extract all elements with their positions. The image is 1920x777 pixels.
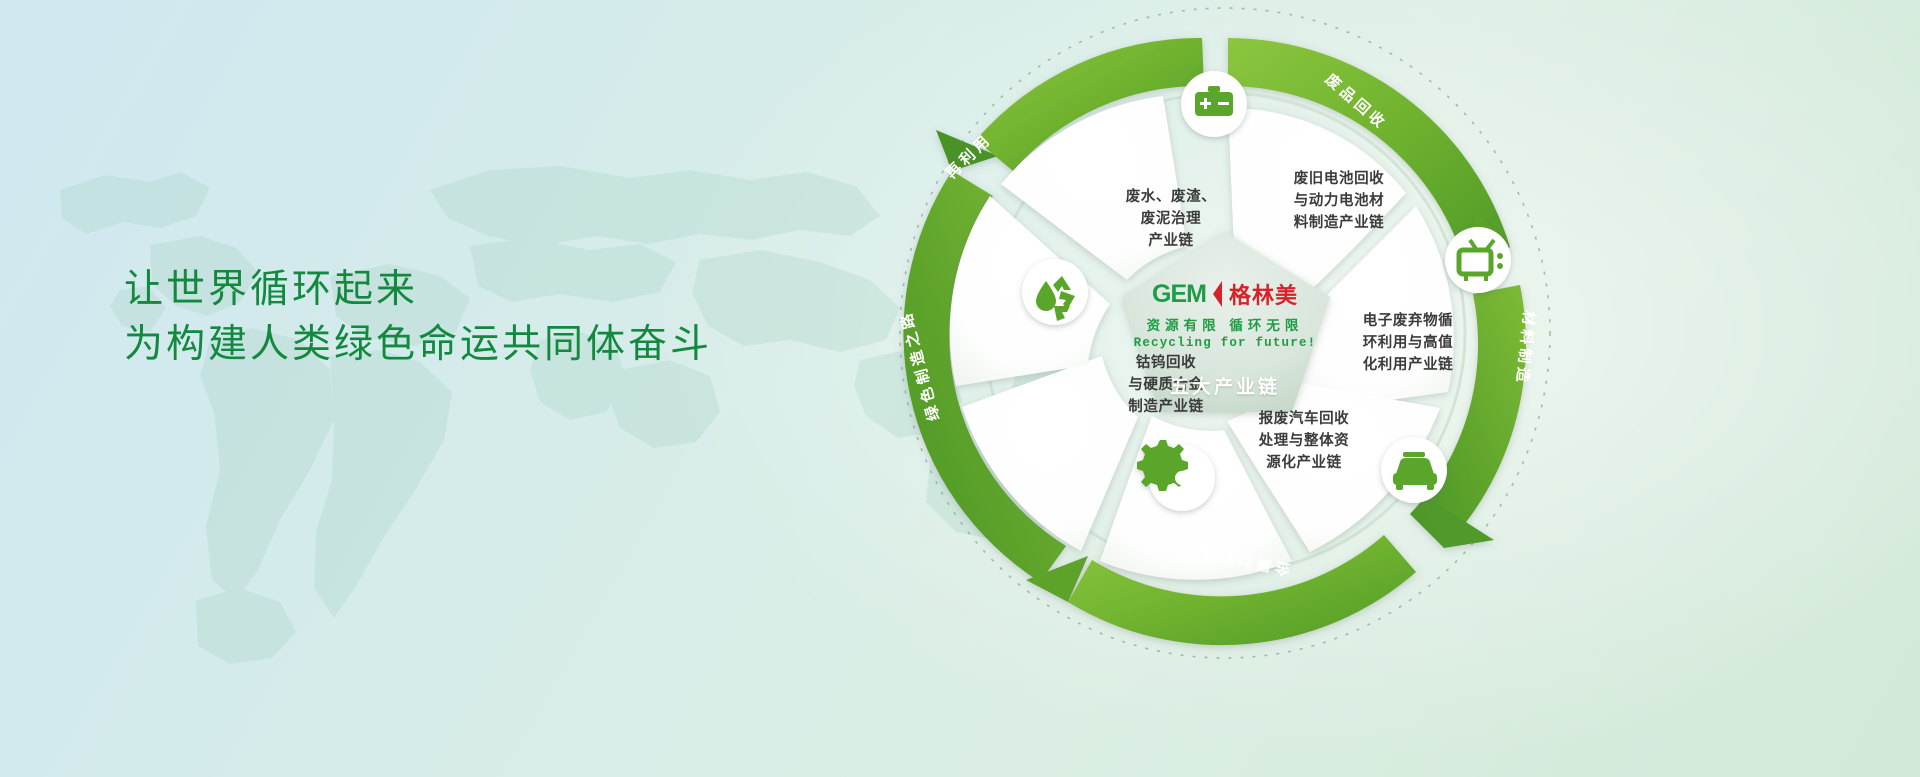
segment-label-ewaste: 电子废弃物循 环利用与高值 化利用产业链 <box>1338 310 1478 376</box>
battery-icon-bubble <box>1181 71 1247 137</box>
recycle-drop-icon-bubble <box>1022 259 1088 325</box>
segment-label-battery: 废旧电池回收 与动力电池材 料制造产业链 <box>1270 168 1408 234</box>
hero-banner: 让世界循环起来 为构建人类绿色命运共同体奋斗 <box>0 0 1920 777</box>
center-title: 五大产业链 <box>1105 372 1345 399</box>
brand-slogan-cn: 资源有限 循环无限 <box>1105 314 1345 334</box>
brand-slogan-en: Recycling for future! <box>1105 336 1345 350</box>
center-brand-block: GEM 格林美 资源有限 循环无限 Recycling for future! … <box>1105 278 1345 399</box>
segment-label-vehicle: 报废汽车回收 处理与整体资 源化产业链 <box>1234 408 1374 474</box>
logo-triangle-icon <box>1213 281 1222 307</box>
page-title: 让世界循环起来 为构建人类绿色命运共同体奋斗 <box>124 262 884 373</box>
logo-chinese-text: 格林美 <box>1229 278 1298 310</box>
industry-chain-diagram: 废水、废渣、 废泥治理 产业链 废旧电池回收 与动力电池材 料制造产业链 电子废… <box>830 0 1620 777</box>
gem-logo: GEM 格林美 <box>1105 278 1345 310</box>
tv-icon-bubble <box>1445 227 1511 293</box>
segment-label-water: 废水、废渣、 废泥治理 产业链 <box>1106 186 1236 252</box>
car-icon-bubble <box>1381 437 1447 503</box>
headline-line-1: 让世界循环起来 <box>124 262 884 317</box>
logo-latin-text: GEM <box>1152 280 1206 309</box>
headline-line-2: 为构建人类绿色命运共同体奋斗 <box>124 317 884 372</box>
